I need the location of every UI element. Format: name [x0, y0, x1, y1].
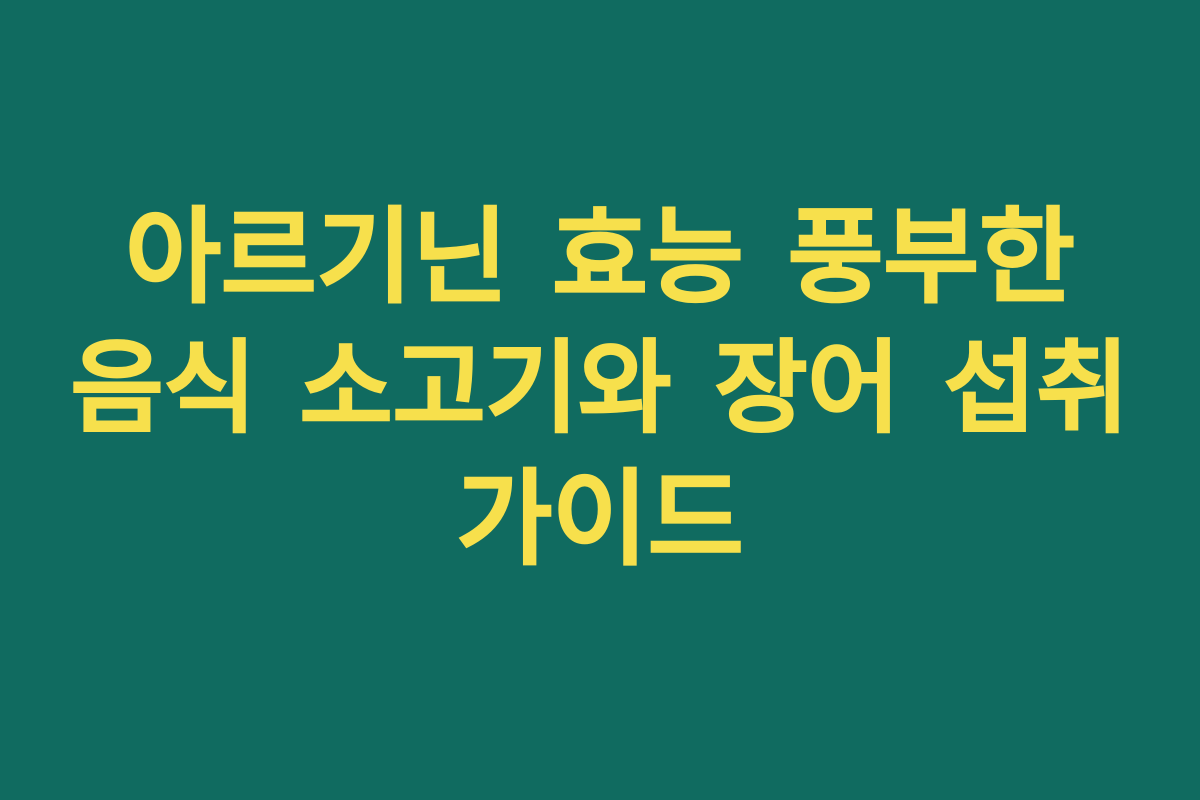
thumbnail-canvas: 아르기닌 효능 풍부한 음식 소고기와 장어 섭취 가이드	[0, 0, 1200, 800]
headline-line-3: 가이드	[70, 454, 1130, 585]
headline-line-1: 아르기닌 효능 풍부한	[70, 192, 1130, 323]
headline-text: 아르기닌 효능 풍부한 음식 소고기와 장어 섭취 가이드	[70, 192, 1130, 585]
headline-line-2: 음식 소고기와 장어 섭취	[70, 323, 1130, 454]
